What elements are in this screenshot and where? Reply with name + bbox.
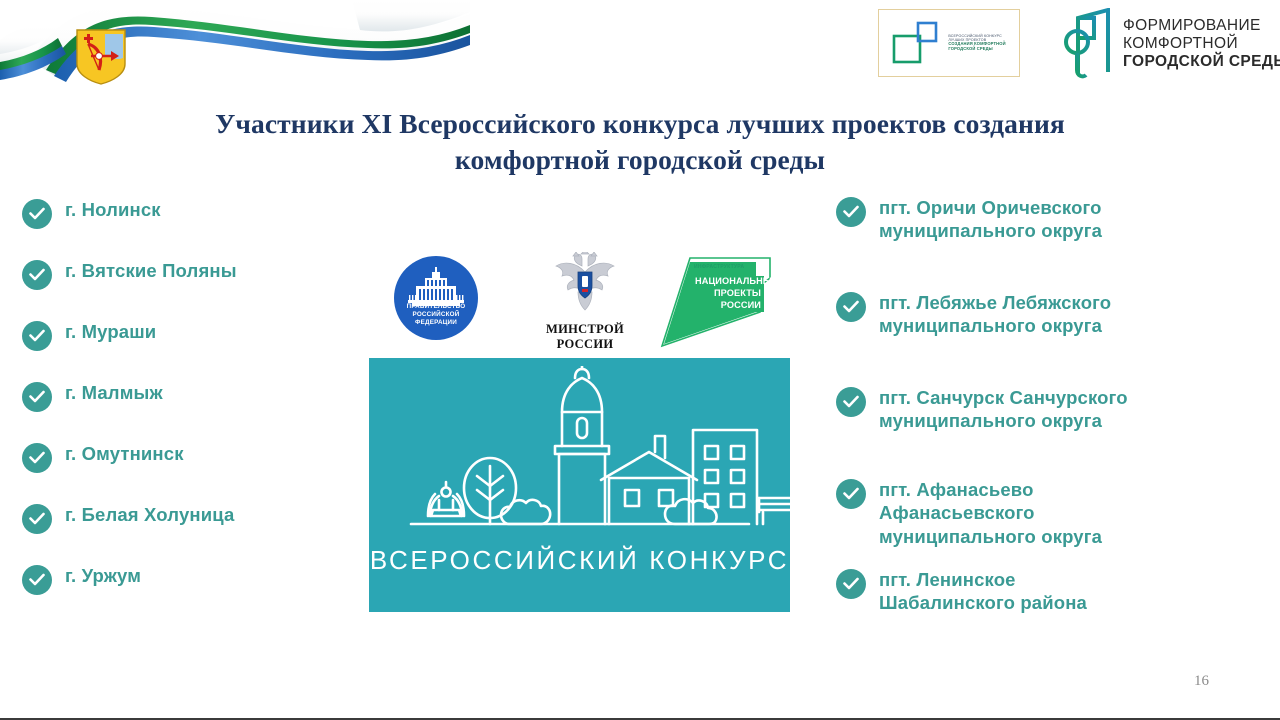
list-item-label: г. Малмыж [65, 381, 163, 404]
np-line1: НАЦИОНАЛЬНЫЕ [692, 276, 764, 288]
check-icon [22, 443, 52, 473]
list-item-line1: пгт. Оричи Оричевского [879, 197, 1102, 218]
check-icon [22, 260, 52, 290]
gov-line3: ФЕДЕРАЦИИ [394, 319, 478, 327]
title-line-2: комфортной городской среды [118, 142, 1162, 178]
list-item[interactable]: пгт. Санчурск Санчурского муниципального… [836, 386, 1256, 478]
minstroy-line1: МИНСТРОЙ [530, 322, 640, 337]
check-icon [836, 292, 866, 322]
right-participants-list: пгт. Оричи Оричевского муниципального ок… [836, 196, 1256, 615]
list-item-line1: пгт. Ленинское [879, 569, 1016, 590]
kirov-oblast-coat-of-arms [75, 28, 127, 86]
minstroy-line2: РОССИИ [530, 337, 640, 352]
check-icon [836, 479, 866, 509]
list-item-line2: Шабалинского района [879, 592, 1087, 613]
np-infra-label: ИНФРАСТРУКТУРА [694, 264, 744, 270]
check-icon [836, 569, 866, 599]
list-item-line1: пгт. Афанасьево [879, 479, 1034, 500]
vserossiyskiy-konkurs-city-panel: ВСЕРОССИЙСКИЙ КОНКУРС [369, 358, 790, 612]
slide: ВСЕРОССИЙСКИЙ КОНКУРС ЛУЧШИХ ПРОЕКТОВ СО… [0, 0, 1280, 720]
gov-line2: РОССИЙСКОЙ [394, 311, 478, 319]
check-icon [22, 321, 52, 351]
fgs-line2: КОМФОРТНОЙ [1123, 35, 1280, 53]
list-item-label: г. Нолинск [65, 198, 161, 221]
natsionalnye-proekty-rossii-logo: ИНФРАСТРУКТУРА НАЦИОНАЛЬНЫЕ ПРОЕКТЫ РОСС… [656, 256, 774, 348]
list-item-label: г. Уржум [65, 564, 141, 587]
formirovanie-komfortnoy-gorodskoy-sredy-logo: ФОРМИРОВАНИЕ КОМФОРТНОЙ ГОРОДСКОЙ СРЕДЫ [1064, 8, 1280, 80]
minstroy-rossii-logo: МИНСТРОЙ РОССИИ [530, 252, 640, 352]
list-item-line2: муниципального округа [879, 220, 1102, 241]
list-item-label: пгт. Оричи Оричевского муниципального ок… [879, 196, 1102, 243]
panel-caption: ВСЕРОССИЙСКИЙ КОНКУРС [369, 545, 790, 576]
list-item[interactable]: г. Нолинск [22, 198, 382, 259]
list-item-line2: Афанасьевского [879, 502, 1035, 523]
list-item[interactable]: г. Уржум [22, 564, 382, 625]
check-icon [22, 382, 52, 412]
list-item-label: пгт. Ленинское Шабалинского района [879, 568, 1087, 615]
contest-logo-line4: ГОРОДСКОЙ СРЕДЫ [948, 47, 1005, 52]
list-item-label: пгт. Афанасьево Афанасьевского муниципал… [879, 478, 1102, 548]
konkurs-squares-icon [892, 20, 944, 66]
list-item-line1: пгт. Лебяжье Лебяжского [879, 292, 1111, 313]
fgs-line3: ГОРОДСКОЙ СРЕДЫ [1123, 53, 1280, 71]
list-item-line3: муниципального округа [879, 526, 1102, 547]
double-headed-eagle-icon [548, 252, 622, 314]
list-item-line2: муниципального округа [879, 315, 1102, 336]
list-item-label: г. Вятские Поляны [65, 259, 237, 282]
page-title: Участники XI Всероссийского конкурса луч… [118, 106, 1162, 178]
list-item[interactable]: г. Малмыж [22, 381, 382, 442]
title-line-1: Участники XI Всероссийского конкурса луч… [118, 106, 1162, 142]
list-item[interactable]: пгт. Оричи Оричевского муниципального ок… [836, 196, 1256, 291]
kirov-flag-ribbon [0, 0, 470, 96]
city-skyline-illustration [369, 366, 790, 566]
list-item-line2: муниципального округа [879, 410, 1102, 431]
fgs-line1: ФОРМИРОВАНИЕ [1123, 17, 1280, 35]
list-item-label: пгт. Лебяжье Лебяжского муниципального о… [879, 291, 1111, 338]
list-item[interactable]: г. Омутнинск [22, 442, 382, 503]
list-item[interactable]: пгт. Афанасьево Афанасьевского муниципал… [836, 478, 1256, 568]
list-item[interactable]: г. Белая Холуница [22, 503, 382, 564]
list-item-label: г. Омутнинск [65, 442, 184, 465]
government-of-russia-logo: ПРАВИТЕЛЬСТВО РОССИЙСКОЙ ФЕДЕРАЦИИ [394, 256, 478, 340]
list-item-label: г. Мураши [65, 320, 156, 343]
check-icon [22, 199, 52, 229]
list-item[interactable]: пгт. Ленинское Шабалинского района [836, 568, 1256, 615]
check-icon [22, 565, 52, 595]
check-icon [836, 197, 866, 227]
list-item-label: пгт. Санчурск Санчурского муниципального… [879, 386, 1128, 433]
list-item-label: г. Белая Холуница [65, 503, 234, 526]
page-number: 16 [1194, 673, 1209, 690]
list-item[interactable]: г. Вятские Поляны [22, 259, 382, 320]
check-icon [836, 387, 866, 417]
fkgs-house-icon [1064, 8, 1114, 80]
np-line3: РОССИИ [692, 300, 764, 312]
left-participants-list: г. Нолинск г. Вятские Поляны г. Мураши г… [22, 198, 382, 625]
np-line2: ПРОЕКТЫ [692, 288, 764, 300]
list-item[interactable]: пгт. Лебяжье Лебяжского муниципального о… [836, 291, 1256, 386]
list-item-line1: пгт. Санчурск Санчурского [879, 387, 1128, 408]
list-item[interactable]: г. Мураши [22, 320, 382, 381]
center-logos-row: ПРАВИТЕЛЬСТВО РОССИЙСКОЙ ФЕДЕРАЦИИ [390, 252, 790, 352]
vserossiyskiy-konkurs-logo: ВСЕРОССИЙСКИЙ КОНКУРС ЛУЧШИХ ПРОЕКТОВ СО… [878, 9, 1020, 77]
check-icon [22, 504, 52, 534]
